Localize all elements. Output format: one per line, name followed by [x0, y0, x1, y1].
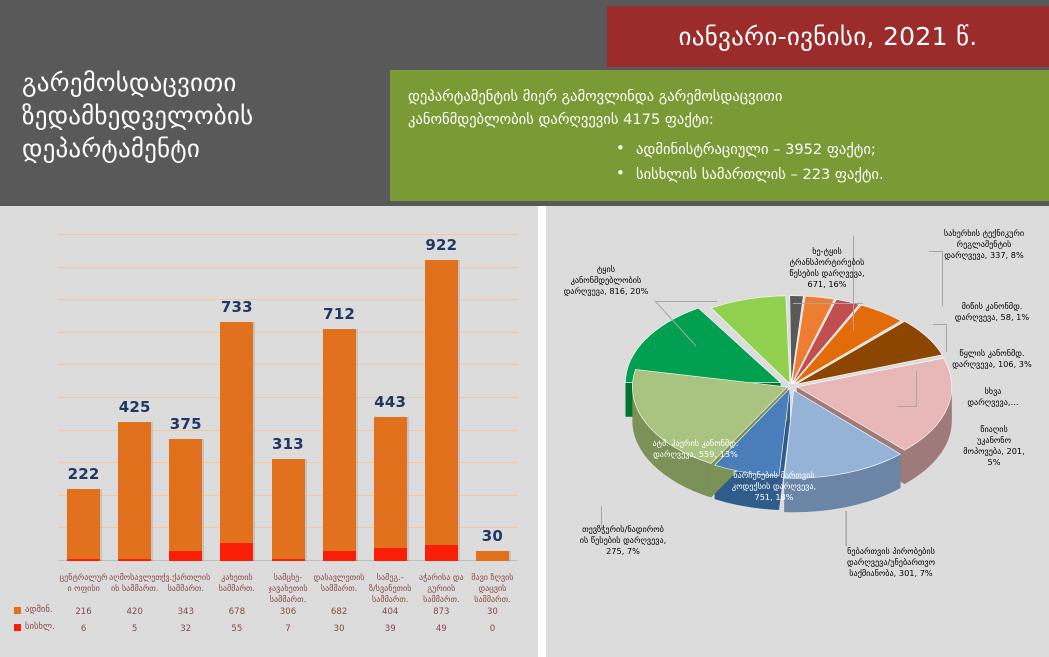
data-cell-administrative: 678 [211, 607, 262, 617]
bar-segment-administrative[interactable] [425, 260, 458, 545]
pie-label-other: სხვა დარღვევა,… [938, 386, 1048, 408]
pie-label-waste: ნარჩენების მართვის კოდექსის დარღვევა, 75… [694, 470, 854, 503]
legend-color-swatch [14, 624, 21, 631]
summary-bullet-criminal: სისხლის სამართლის – 223 ფაქტი. [616, 162, 1031, 187]
data-cell-administrative: 30 [467, 607, 518, 617]
bar-total-label: 222 [54, 465, 114, 483]
bar-chart-plot-area: 22242537573331371244392230 [58, 235, 518, 561]
bar-category-label: ცენტრალურ ი ოფისი [58, 572, 109, 594]
bar-segment-administrative[interactable] [272, 459, 305, 559]
bar-segment-criminal[interactable] [272, 559, 305, 561]
bar-column[interactable] [323, 329, 356, 561]
bar-total-label: 922 [411, 236, 471, 254]
pie-label-water: წყლის კანონმდ. დარღვევა, 106, 3% [936, 348, 1048, 370]
bar-segment-administrative[interactable] [220, 322, 253, 543]
bar-category-label: შავი ზღვის დაცვის სამმართ. [467, 572, 518, 605]
data-cell-criminal: 32 [160, 624, 211, 634]
bar-chart-panel: 22242537573331371244392230 ცენტრალურ ი ო… [0, 206, 538, 657]
bar-category-label: კახეთის სამმართ. [211, 572, 262, 594]
bar-category-label: დასავლეთის სამმართ. [314, 572, 365, 594]
pie-leader-line [898, 406, 917, 407]
bar-segment-criminal[interactable] [169, 551, 202, 561]
bar-segment-administrative[interactable] [169, 439, 202, 551]
data-cell-criminal: 0 [467, 624, 518, 634]
bar-category-label: სამეგ.- ზ/სვანეთის სამმართ. [365, 572, 416, 605]
pie-label-sawmill: სახერხის ტექნიკური რეგლამენტის დარღვევა,… [920, 228, 1048, 261]
data-cell-criminal: 6 [58, 624, 109, 634]
bar-segment-administrative[interactable] [374, 417, 407, 549]
pie-label-transport: ხე-ტყის ტრანსპორტირების წესების დარღვევა… [762, 246, 892, 290]
pie-chart-panel: ტყის კანონმდებლობის დარღვევა, 816, 20%ხე… [546, 206, 1049, 657]
bar-column[interactable] [67, 489, 100, 561]
date-banner: იანვარი-ივნისი, 2021 წ. [607, 6, 1049, 67]
data-cell-administrative: 404 [365, 607, 416, 617]
pie-leader-line [655, 301, 717, 302]
pie-leader-line [933, 324, 947, 325]
bar-column[interactable] [118, 422, 151, 561]
data-cell-administrative: 420 [109, 607, 160, 617]
legend-color-swatch [14, 607, 21, 614]
data-cell-criminal: 55 [211, 624, 262, 634]
data-cell-administrative: 343 [160, 607, 211, 617]
data-cell-criminal: 5 [109, 624, 160, 634]
data-cell-administrative: 306 [262, 607, 313, 617]
bar-column[interactable] [272, 459, 305, 561]
bar-segment-criminal[interactable] [220, 543, 253, 561]
data-cell-administrative: 682 [314, 607, 365, 617]
bar-segment-administrative[interactable] [118, 422, 151, 559]
presentation-slide: გარემოსდაცვითი ზედამხედველობის დეპარტამე… [0, 0, 1049, 657]
bar-segment-administrative[interactable] [323, 329, 356, 551]
bar-segment-administrative[interactable] [476, 551, 509, 561]
bar-total-label: 313 [258, 435, 318, 453]
bar-category-label: აჭარისა და გურიის სამმართ. [416, 572, 467, 605]
legend-label: სისხლ. [25, 622, 55, 632]
summary-intro-text: დეპარტამენტის მიერ გამოვლინდა გარემოსდაც… [408, 86, 1031, 131]
pie-leader-line [793, 303, 863, 304]
legend-key-criminal[interactable]: სისხლ. [14, 622, 55, 632]
pie-label-land: მიწის კანონმდ. დარღვევა, 58, 1% [936, 301, 1048, 323]
gridline [58, 234, 518, 235]
pie-chart-plot-area: ტყის კანონმდებლობის დარღვევა, 816, 20%ხე… [546, 206, 1049, 657]
bar-column[interactable] [374, 417, 407, 561]
bar-segment-criminal[interactable] [118, 559, 151, 561]
bar-segment-criminal[interactable] [374, 548, 407, 561]
pie-leader-line [846, 511, 847, 546]
bar-category-label: აღმოსავლეთ ის სამმართ. [109, 572, 160, 594]
bar-segment-criminal[interactable] [323, 551, 356, 561]
bar-total-label: 30 [462, 527, 522, 545]
pie-label-forest: ტყის კანონმდებლობის დარღვევა, 816, 20% [551, 264, 661, 297]
bar-column[interactable] [425, 260, 458, 561]
bar-column[interactable] [169, 439, 202, 561]
pie-label-fishing: თევზჭერის/ნადირობ ის წესების დარღვევა, 2… [548, 524, 698, 557]
legend-label: ადმინ. [25, 605, 53, 615]
data-cell-criminal: 7 [262, 624, 313, 634]
bar-total-label: 733 [207, 298, 267, 316]
pie-leader-line [916, 371, 917, 406]
department-title: გარემოსდაცვითი ზედამხედველობის დეპარტამე… [22, 66, 382, 165]
data-cell-criminal: 49 [416, 624, 467, 634]
data-cell-criminal: 39 [365, 624, 416, 634]
summary-bullet-administrative: ადმინისტრაციული – 3952 ფაქტი; [616, 137, 1031, 162]
data-cell-administrative: 873 [416, 607, 467, 617]
pie-label-air: ატმ. ჰაერის კანონმდ. დარღვევა, 559, 13% [618, 438, 773, 460]
pie-label-mining: წიაღის უკანონო მოპოვება, 201, 5% [942, 424, 1046, 468]
summary-bullet-list: ადმინისტრაციული – 3952 ფაქტი; სისხლის სა… [408, 137, 1031, 187]
bar-segment-criminal[interactable] [425, 545, 458, 561]
bar-category-label: ქვ.ქართლის სამმართ. [160, 572, 211, 594]
data-cell-criminal: 30 [314, 624, 365, 634]
summary-box: დეპარტამენტის მიერ გამოვლინდა გარემოსდაც… [390, 70, 1049, 201]
bar-column[interactable] [476, 551, 509, 561]
pie-label-permit: ნებართვის პირობების დარღვევა/უნებართვო ს… [796, 546, 986, 579]
data-cell-administrative: 216 [58, 607, 109, 617]
bar-total-label: 443 [360, 393, 420, 411]
date-banner-text: იანვარი-ივნისი, 2021 წ. [678, 22, 977, 51]
bar-total-label: 425 [105, 398, 165, 416]
bar-segment-criminal[interactable] [67, 559, 100, 561]
legend-key-administrative[interactable]: ადმინ. [14, 605, 53, 615]
bar-column[interactable] [220, 322, 253, 561]
bar-category-label: სამცხე- ჯავახეთის სამმართ. [262, 572, 313, 605]
bar-total-label: 375 [156, 415, 216, 433]
panel-divider [538, 206, 546, 657]
bar-segment-administrative[interactable] [67, 489, 100, 559]
bar-total-label: 712 [309, 305, 369, 323]
